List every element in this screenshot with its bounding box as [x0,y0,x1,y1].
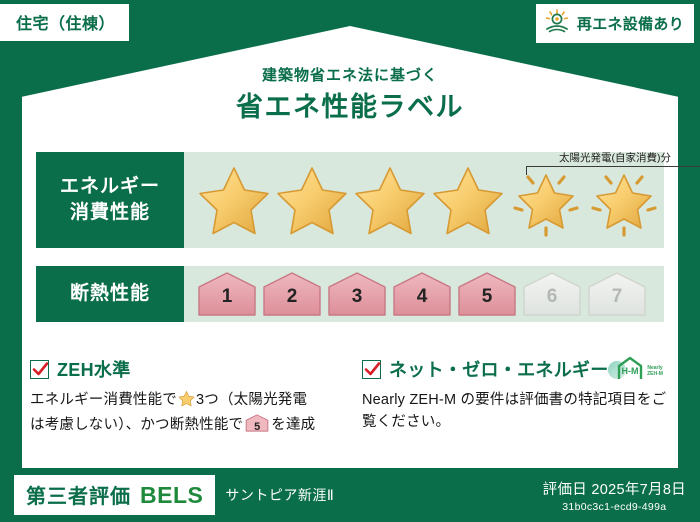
insulation-grade-value: 5 [456,287,518,306]
net-zero-criteria-body: Nearly ZEH-M の要件は評価書の特記項目をご覧ください。 [362,389,667,434]
solar-portion-bracket [526,166,700,175]
label-title: 省エネ性能ラベル [0,85,700,124]
insulation-row-label: 断熱性能 [36,266,184,322]
footer: 第三者評価 BELS サントピア新涯Ⅱ 評価日 2025年7月8日 31b0c3… [0,468,700,522]
energy-row-label-line1: エネルギー [60,174,160,200]
insulation-grade-value: 3 [326,287,388,306]
zeh-star-count: 3つ（太陽光発電 [196,392,307,408]
zeh-criteria-block: ZEH水準 エネルギー消費性能で3つ（太陽光発電 は考慮しない）、かつ断熱性能で… [30,356,340,437]
insulation-grade-scale: 1 2 3 4 [184,271,648,317]
net-zero-criteria-block: ネット・ゼロ・エネルギー H-M Nearly ZEH-M [362,356,667,434]
bels-jp-label: 第三者評価 [26,480,131,509]
evaluation-info: 評価日 2025年7月8日 31b0c3c1-ecd9-499a [543,478,686,513]
insulation-grade-value: 6 [521,287,583,306]
solar-portion-note: 太陽光発電(自家消費)分 [520,150,700,165]
energy-row-label-line2: 消費性能 [70,200,150,226]
zeh-text-part3: を達成 [271,417,315,433]
bels-certification-box: 第三者評価 BELS [14,475,215,515]
insulation-grade-value: 2 [261,287,323,306]
insulation-grade-value: 1 [196,287,258,306]
renewable-equipment-badge: 再エネ設備あり [536,4,694,43]
solar-sun-icon [544,9,570,38]
insulation-grade-value: 4 [391,287,453,306]
svg-text:H-M: H-M [622,366,639,376]
net-zero-criteria-header: ネット・ゼロ・エネルギー H-M Nearly ZEH-M [362,356,667,382]
energy-row-label: エネルギー 消費性能 [36,152,184,248]
property-name: サントピア新涯Ⅱ [225,485,334,505]
zeh-criteria-title: ZEH水準 [57,356,131,382]
check-icon [364,361,381,378]
energy-performance-row: エネルギー 消費性能 太陽光発電(自家消費)分 [36,152,664,248]
inline-house-icon: 5 [245,414,269,432]
insulation-grade-value: 7 [586,287,648,306]
evaluation-date: 評価日 2025年7月8日 [543,478,686,499]
net-zero-criteria-title: ネット・ゼロ・エネルギー [389,356,609,382]
check-icon [32,361,49,378]
label-subtitle: 建築物省エネ法に基づく [0,64,700,85]
svg-text:ZEH-M: ZEH-M [647,371,663,377]
bels-en-label: BELS [140,482,203,509]
energy-row-body: 太陽光発電(自家消費)分 [184,152,664,248]
insulation-grade: 7 [586,271,648,317]
zeh-text-part1: エネルギー消費性能で [30,392,177,408]
star-filled [430,163,506,237]
insulation-grade: 3 [326,271,388,317]
zeh-criteria-header: ZEH水準 [30,356,340,382]
zeh-text-part2: は考慮しない）、かつ断熱性能で [30,417,243,433]
insulation-row-body: 1 2 3 4 [184,266,664,322]
star-filled [196,163,272,237]
insulation-grade: 5 [456,271,518,317]
star-filled [352,163,428,237]
insulation-grade: 4 [391,271,453,317]
renewable-badge-label: 再エネ設備あり [577,13,684,34]
star-filled [274,163,350,237]
zeh-checkbox[interactable] [30,360,49,379]
insulation-grade: 6 [521,271,583,317]
insulation-performance-row: 断熱性能 [36,266,664,322]
evaluation-id: 31b0c3c1-ecd9-499a [543,501,686,513]
insulation-grade: 1 [196,271,258,317]
zeh-criteria-body: エネルギー消費性能で3つ（太陽光発電 は考慮しない）、かつ断熱性能で5を達成 [30,389,340,437]
zeh-m-logo: H-M Nearly ZEH-M [605,354,667,389]
net-zero-checkbox[interactable] [362,360,381,379]
inline-house-value: 5 [245,419,269,436]
house-type-tag: 住宅（住棟） [0,4,129,41]
inline-star-icon [178,390,195,414]
insulation-grade: 2 [261,271,323,317]
energy-performance-label: 住宅（住棟） 再エネ設備あり 建築物省エネ法に基づく 省エネ性能ラベル [0,0,700,522]
